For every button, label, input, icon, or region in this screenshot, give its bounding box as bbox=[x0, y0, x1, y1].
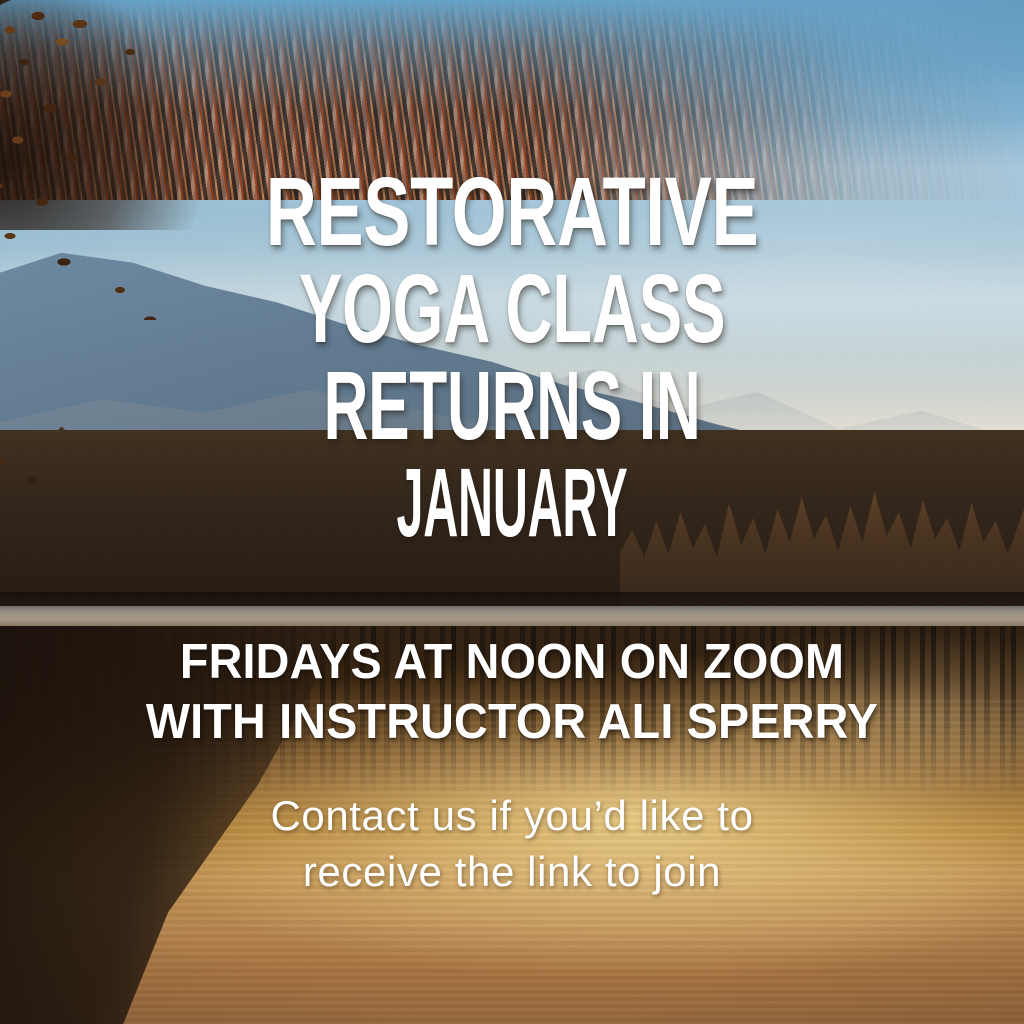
body-line-2: receive the link to join bbox=[112, 844, 912, 900]
text-overlay: RESTORATIVE YOGA CLASS RETURNS IN JANUAR… bbox=[0, 0, 1024, 1024]
subhead-line-instructor: WITH INSTRUCTOR ALI SPERRY bbox=[55, 692, 970, 752]
page-title: RESTORATIVE YOGA CLASS RETURNS IN JANUAR… bbox=[52, 163, 972, 551]
headline-line-3: RETURNS IN bbox=[217, 357, 807, 454]
headline-line-2: YOGA CLASS bbox=[202, 260, 822, 357]
contact-instructions: Contact us if you’d like to receive the … bbox=[112, 788, 912, 900]
schedule-subheading: FRIDAYS AT NOON ON ZOOM WITH INSTRUCTOR … bbox=[32, 632, 992, 752]
subhead-line-schedule: FRIDAYS AT NOON ON ZOOM bbox=[55, 632, 970, 692]
poster: RESTORATIVE YOGA CLASS RETURNS IN JANUAR… bbox=[0, 0, 1024, 1024]
headline-line-4: JANUARY bbox=[282, 454, 742, 551]
body-line-1: Contact us if you’d like to bbox=[112, 788, 912, 844]
headline-line-1: RESTORATIVE bbox=[177, 163, 848, 260]
